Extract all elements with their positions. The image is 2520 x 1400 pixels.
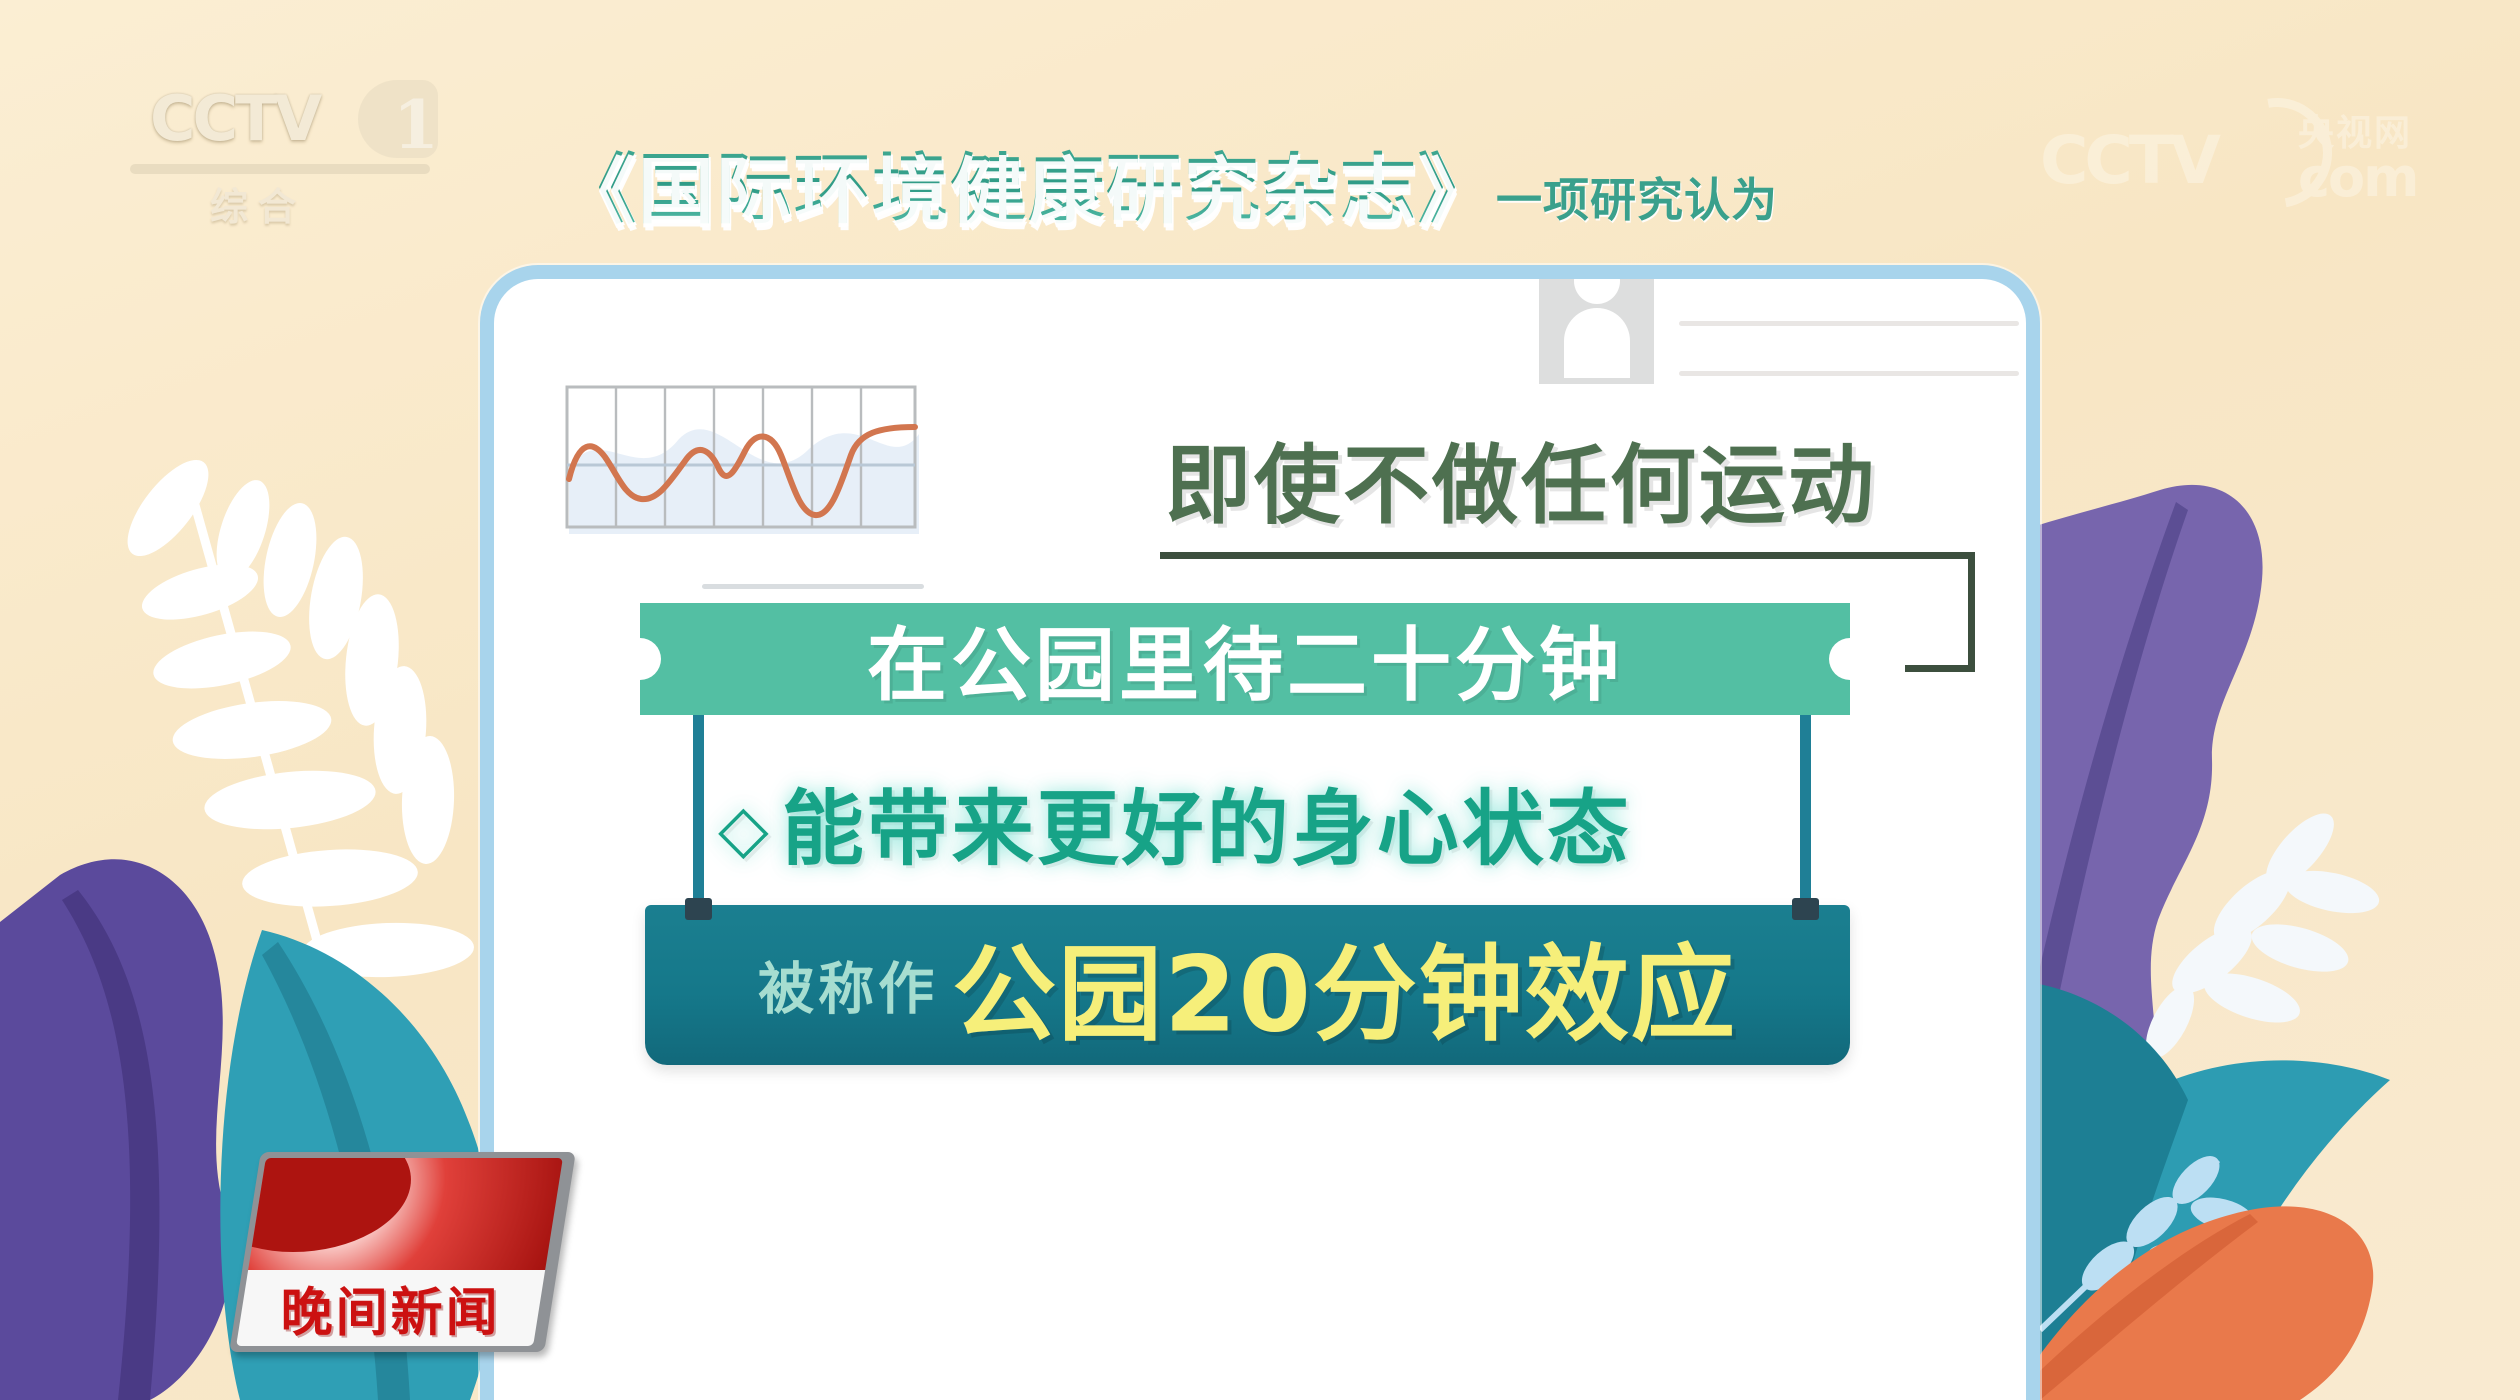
- white-sprig: [2136, 803, 2383, 1065]
- text-rule: [1679, 371, 2019, 376]
- light-blue-sprig: [2040, 1148, 2257, 1333]
- headline: 《国际环境健康研究杂志》一项研究认为: [560, 128, 1778, 238]
- magazine-title: 《国际环境健康研究杂志》: [560, 145, 1496, 234]
- program-bug: 晚间新闻: [229, 1152, 576, 1352]
- text-rule: [702, 584, 924, 589]
- conclusion-sign: 被称作公园20分钟效应: [645, 905, 1850, 1065]
- purple-leaf: [0, 859, 232, 1400]
- channel-logo-bar: [130, 164, 430, 174]
- channel-logo: CCTV 1 综合: [150, 72, 450, 222]
- line-chart-graphic: [559, 379, 924, 539]
- site-watermark: CCTV 央视网 com: [2040, 100, 2440, 210]
- watermark-domain: com: [2298, 146, 2417, 209]
- person-avatar-placeholder: [1539, 279, 1654, 384]
- watermark-wordmark: CCTV: [2040, 122, 2217, 199]
- banner-highlight: 在公园里待二十分钟: [640, 603, 1850, 715]
- program-bug-strip: 晚间新闻: [236, 1270, 545, 1346]
- red-globe-icon: [248, 1158, 563, 1270]
- diamond-bullet-icon: ◇: [718, 790, 772, 867]
- banner-text: 在公园里待二十分钟: [640, 601, 1850, 717]
- cctv-wordmark: CCTV: [150, 82, 319, 155]
- text-rule: [1679, 321, 2019, 326]
- statement-underline: [1160, 552, 1975, 559]
- broadcast-frame: 《国际环境健康研究杂志》一项研究认为 即使不做任何运动 在公园里待二十分钟 ◇能…: [0, 0, 2520, 1400]
- cord-clamp-left: [685, 898, 712, 920]
- orange-leaf-vein: [2010, 1214, 2258, 1400]
- statement-line-1: 即使不做任何运动: [1165, 415, 1877, 540]
- sign-prefix: 被称作: [758, 958, 938, 1023]
- statement-line-2-text: 能带来更好的身心状态: [782, 782, 1632, 877]
- teal-leaf: [2000, 1060, 2390, 1400]
- headline-attribution: 一项研究认为: [1496, 173, 1778, 227]
- sign-highlight: 公园20分钟效应: [952, 934, 1737, 1056]
- program-name: 晚间新闻: [242, 1271, 539, 1346]
- purple-leaf-vein: [62, 890, 159, 1400]
- channel-name: 综合: [210, 176, 306, 231]
- channel-number: 1: [393, 86, 439, 164]
- background-foliage-right: [2000, 280, 2520, 1400]
- orange-leaf: [2010, 1206, 2373, 1400]
- connector-bracket: [1905, 552, 1975, 672]
- cord-clamp-right: [1792, 898, 1819, 920]
- statement-line-2: ◇能带来更好的身心状态: [718, 762, 1632, 881]
